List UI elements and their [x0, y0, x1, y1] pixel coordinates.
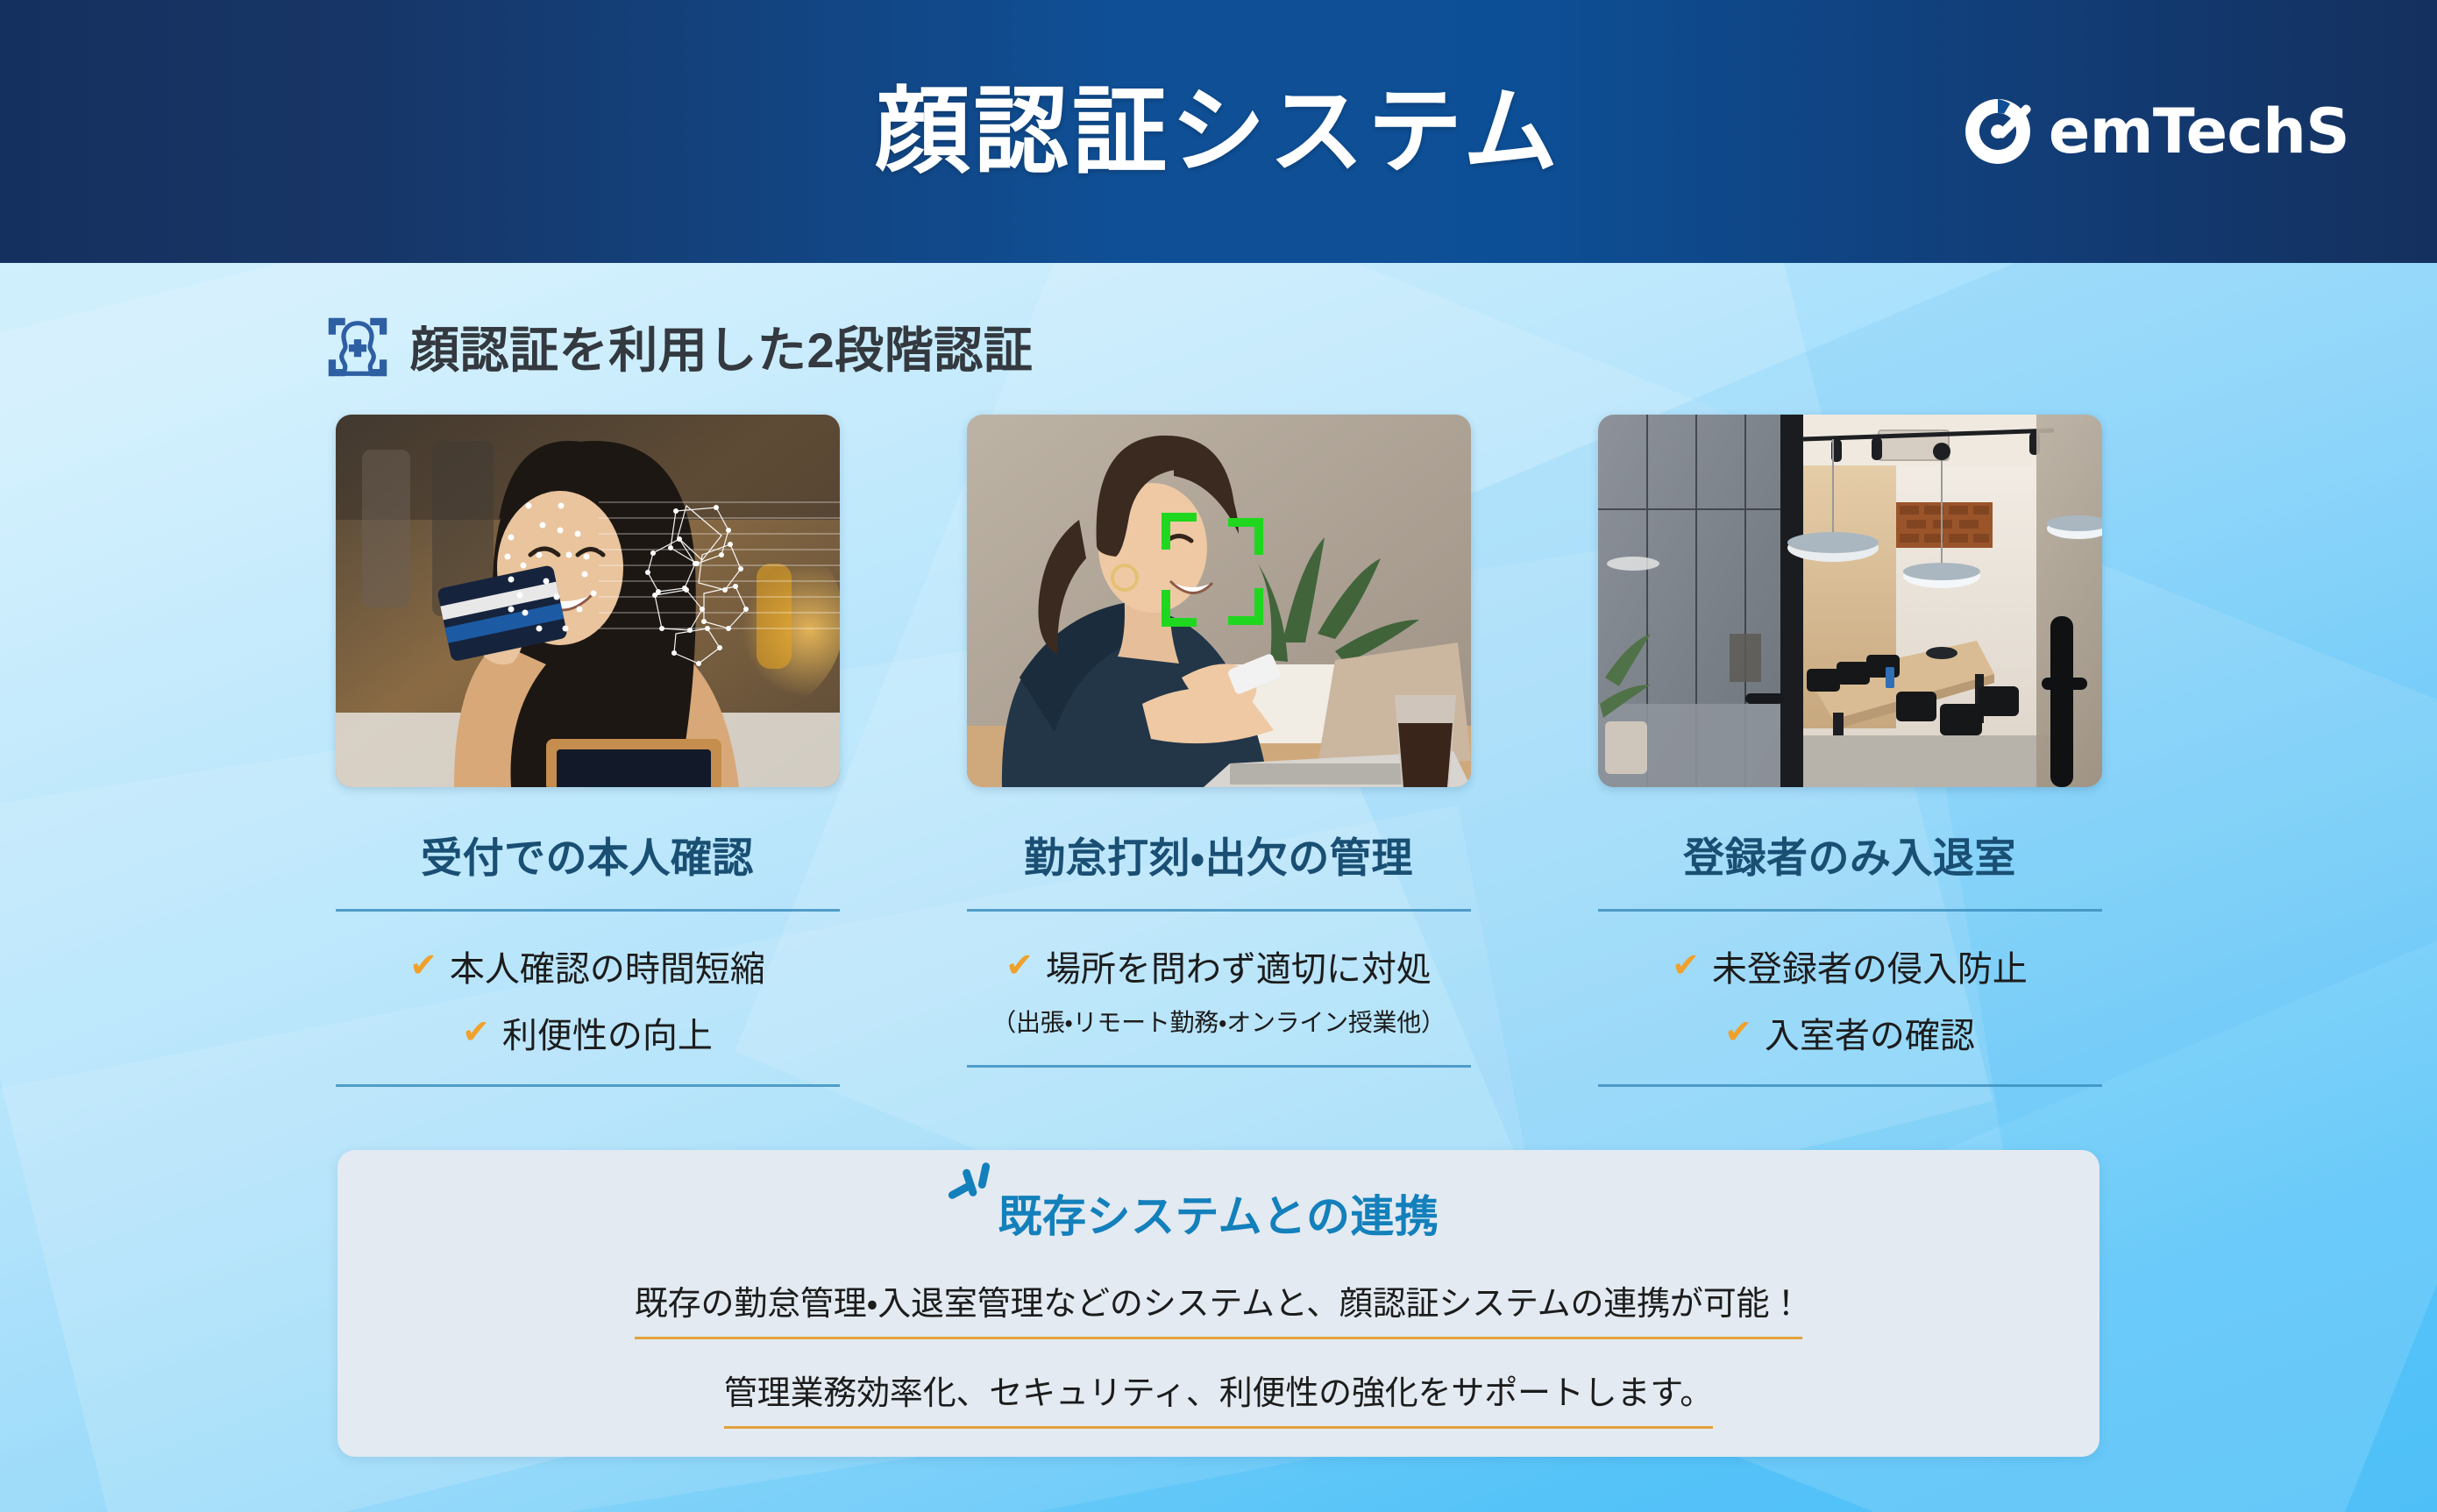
- photo-face-recognition-reception: [336, 415, 840, 787]
- face-scan-icon: [324, 314, 391, 380]
- sparkle-lines-icon: [944, 1159, 997, 1213]
- feature-card-row: 受付での本人確認 ✔ 本人確認の時間短縮 ✔ 利便性の向上: [0, 415, 2437, 1087]
- panel-title: 既存システムとの連携: [998, 1182, 1439, 1245]
- feature-card: 受付での本人確認 ✔ 本人確認の時間短縮 ✔ 利便性の向上: [336, 415, 840, 1087]
- card-points: ✔ 場所を問わず適切に対処 （出張・リモート勤務・オンライン授業他）: [967, 912, 1471, 1065]
- card-point-label: 未登録者の侵入防止: [1712, 941, 2028, 991]
- card-divider-top: [336, 909, 840, 912]
- panel-line-2: 管理業務効率化、セキュリティ、利便性の強化をサポートします。: [724, 1366, 1713, 1429]
- card-title: 登録者のみ入退室: [1598, 824, 2102, 884]
- panel-title-wrap: 既存システムとの連携: [998, 1182, 1439, 1245]
- page-header: 顔認証システム emTechS: [0, 0, 2437, 263]
- card-point: ✔ 入室者の確認: [1724, 1007, 1975, 1058]
- card-point-label: 利便性の向上: [502, 1007, 713, 1058]
- brand-logo: emTechS: [1959, 93, 2349, 170]
- card-point: ✔ 未登録者の侵入防止: [1672, 941, 2028, 991]
- card-point: ✔ 利便性の向上: [462, 1007, 713, 1058]
- integration-panel: 既存システムとの連携 既存の勤怠管理・入退室管理などのシステムと、顔認証システム…: [337, 1150, 2100, 1457]
- feature-card: 勤怠打刻・出欠の管理 ✔ 場所を問わず適切に対処 （出張・リモート勤務・オンライ…: [967, 415, 1471, 1087]
- photo-attendance-laptop: [967, 415, 1471, 787]
- card-points: ✔ 未登録者の侵入防止 ✔ 入室者の確認: [1598, 912, 2102, 1084]
- card-divider-top: [967, 909, 1471, 912]
- card-divider-bottom: [336, 1084, 840, 1087]
- panel-line-1: 既存の勤怠管理・入退室管理などのシステムと、顔認証システムの連携が可能！: [635, 1276, 1802, 1339]
- card-point-note: （出張・リモート勤務・オンライン授業他）: [991, 1004, 1445, 1039]
- page-title: 顔認証システム: [875, 84, 1561, 179]
- card-point-label: 本人確認の時間短縮: [450, 941, 765, 991]
- check-icon: ✔: [1672, 949, 1700, 983]
- check-icon: ✔: [409, 949, 437, 983]
- card-title: 勤怠打刻・出欠の管理: [967, 824, 1471, 884]
- section-title: 顔認証を利用した2段階認証: [410, 311, 1033, 382]
- card-point-label: 入室者の確認: [1765, 1007, 1975, 1058]
- check-icon: ✔: [1724, 1016, 1752, 1049]
- card-point-label: 場所を問わず適切に対処: [1046, 941, 1432, 991]
- card-point: ✔ 本人確認の時間短縮: [409, 941, 765, 991]
- card-divider-top: [1598, 909, 2102, 912]
- check-icon: ✔: [462, 1016, 490, 1049]
- section-header: 顔認証を利用した2段階認証: [324, 311, 1033, 382]
- brand-name: emTechS: [2049, 96, 2349, 167]
- check-icon: ✔: [1005, 949, 1034, 983]
- card-points: ✔ 本人確認の時間短縮 ✔ 利便性の向上: [336, 912, 840, 1084]
- feature-card: 登録者のみ入退室 ✔ 未登録者の侵入防止 ✔ 入室者の確認: [1598, 415, 2102, 1087]
- card-title: 受付での本人確認: [336, 824, 840, 884]
- gauge-circle-logo-icon: [1959, 93, 2036, 170]
- card-divider-bottom: [967, 1065, 1471, 1068]
- card-divider-bottom: [1598, 1084, 2102, 1087]
- card-point: ✔ 場所を問わず適切に対処: [1005, 941, 1432, 991]
- photo-meeting-room-entry: [1598, 415, 2102, 787]
